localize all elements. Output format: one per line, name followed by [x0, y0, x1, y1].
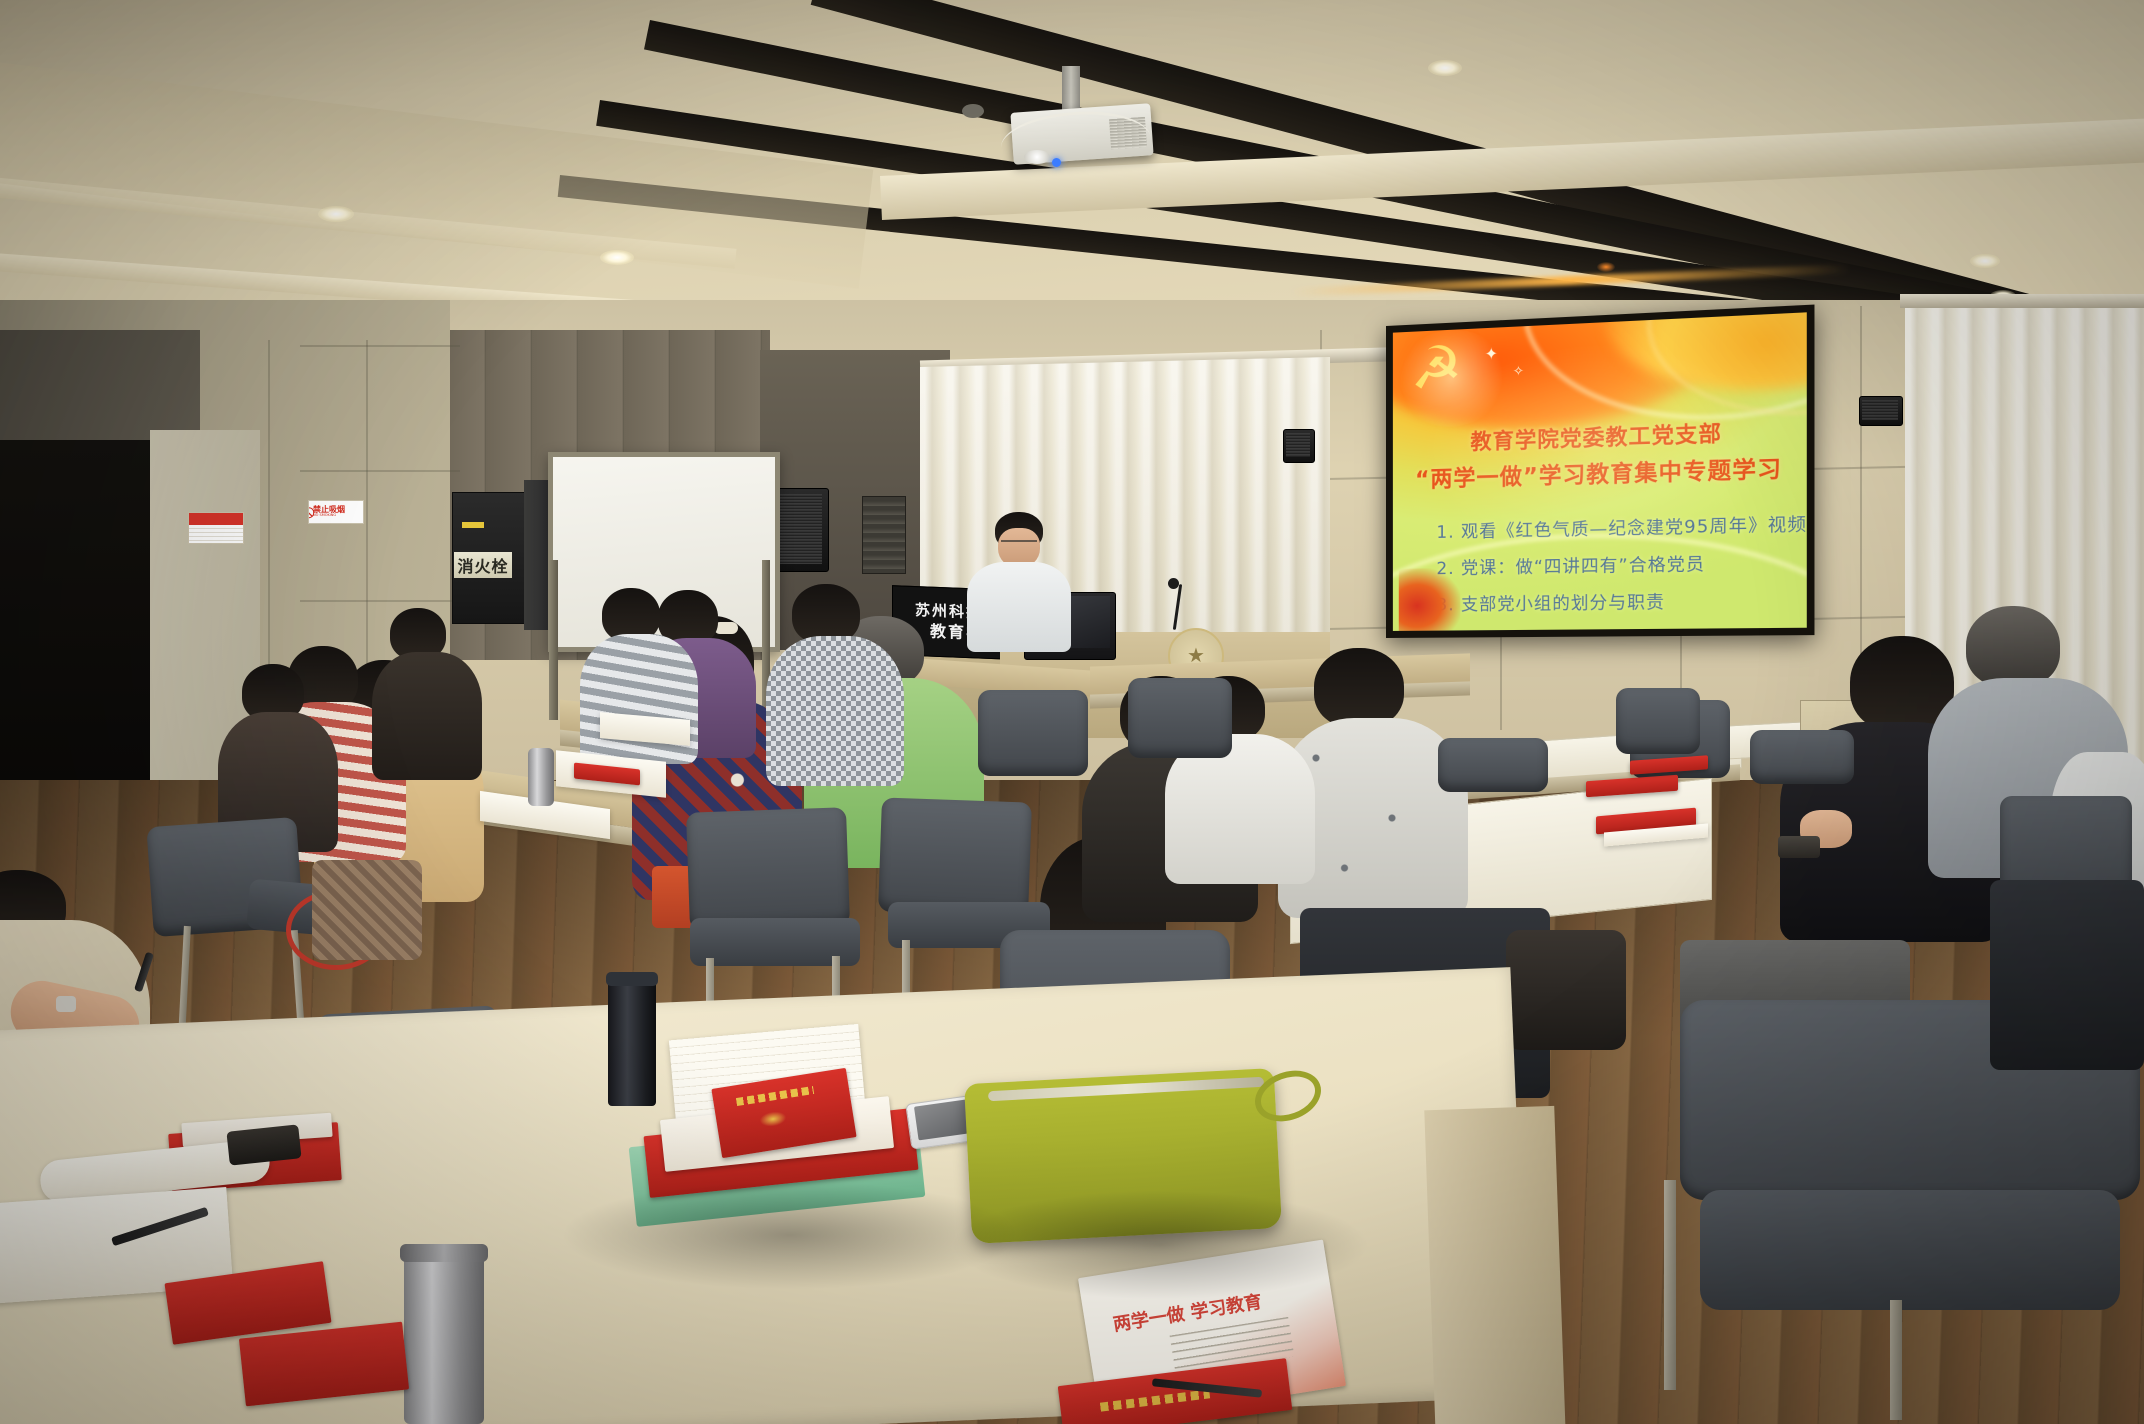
- wrist-watch-icon: [56, 996, 76, 1012]
- table-shadow: [950, 1190, 1370, 1300]
- no-smoking-sign: ⃠ 禁止吸烟 NO SMOKING: [308, 500, 364, 524]
- ceiling-sensor: [962, 104, 984, 118]
- downlight: [1428, 60, 1462, 76]
- bag-on-chair: [312, 860, 422, 960]
- chair[interactable]: [978, 690, 1088, 776]
- bag-on-chair: [1506, 930, 1626, 1050]
- chair[interactable]: [1128, 678, 1232, 758]
- chair-leg: [1664, 1180, 1676, 1390]
- wall-speaker-grill: [780, 494, 822, 564]
- wall-speaker-grill: [1286, 433, 1310, 457]
- black-thermos: [608, 976, 656, 1106]
- no-smoking-label-en: NO SMOKING: [313, 514, 336, 518]
- chair[interactable]: [1990, 880, 2144, 1070]
- chair[interactable]: [878, 797, 1032, 916]
- chair-leg: [1890, 1300, 1902, 1420]
- attendee-body: [766, 636, 904, 786]
- projection-screen: ☭ ✦ ✧ 教育学院党委教工党支部 “两学一做”学习教育集中专题学习 1. 观看…: [1386, 305, 1814, 638]
- downlight: [600, 250, 634, 265]
- fire-hydrant-label: 消火栓: [454, 552, 512, 578]
- door-notice-label: [188, 512, 244, 544]
- attendee-hair: [1314, 648, 1404, 728]
- meeting-room-photo: ⃠ 禁止吸烟 NO SMOKING 消火栓 ☭ ✦ ✧: [0, 0, 2144, 1424]
- screen-glare: [1393, 312, 1807, 631]
- wall-tile-line: [300, 600, 460, 602]
- chair[interactable]: [1616, 688, 1700, 754]
- av-rack: [862, 496, 906, 574]
- downlight: [1597, 262, 1615, 272]
- projection-screen-surface: ☭ ✦ ✧ 教育学院党委教工党支部 “两学一做”学习教育集中专题学习 1. 观看…: [1393, 312, 1807, 631]
- hydrant-indicator: [462, 522, 484, 528]
- steel-thermos: [404, 1250, 484, 1424]
- microphone-head-icon: [1168, 578, 1179, 589]
- chair-seat[interactable]: [1700, 1190, 2120, 1310]
- wall-tile-line: [300, 470, 460, 472]
- presenter-glasses-icon: [1001, 540, 1037, 548]
- attendee-phone[interactable]: [1778, 836, 1820, 858]
- attendee-hair: [1966, 606, 2060, 688]
- foreground-table-edge: [1424, 1106, 1565, 1424]
- projector-mount: [1062, 66, 1080, 112]
- wall-speaker-grill: [1862, 400, 1898, 420]
- thermos-cap: [606, 972, 658, 986]
- curtain-rail: [1900, 294, 2144, 308]
- wall-tile-line: [300, 345, 460, 347]
- downlight: [318, 206, 354, 222]
- steel-thermos: [528, 748, 554, 806]
- chair[interactable]: [1750, 730, 1854, 784]
- chair[interactable]: [686, 807, 850, 931]
- thermos-cap: [400, 1244, 488, 1262]
- presenter-shirt: [967, 562, 1071, 652]
- projector-power-led: [1052, 158, 1061, 167]
- attendee-body: [372, 652, 482, 780]
- whiteboard-leg: [549, 560, 558, 720]
- downlight: [1970, 254, 2000, 268]
- chair[interactable]: [1438, 738, 1548, 792]
- attendee-hair: [792, 584, 860, 644]
